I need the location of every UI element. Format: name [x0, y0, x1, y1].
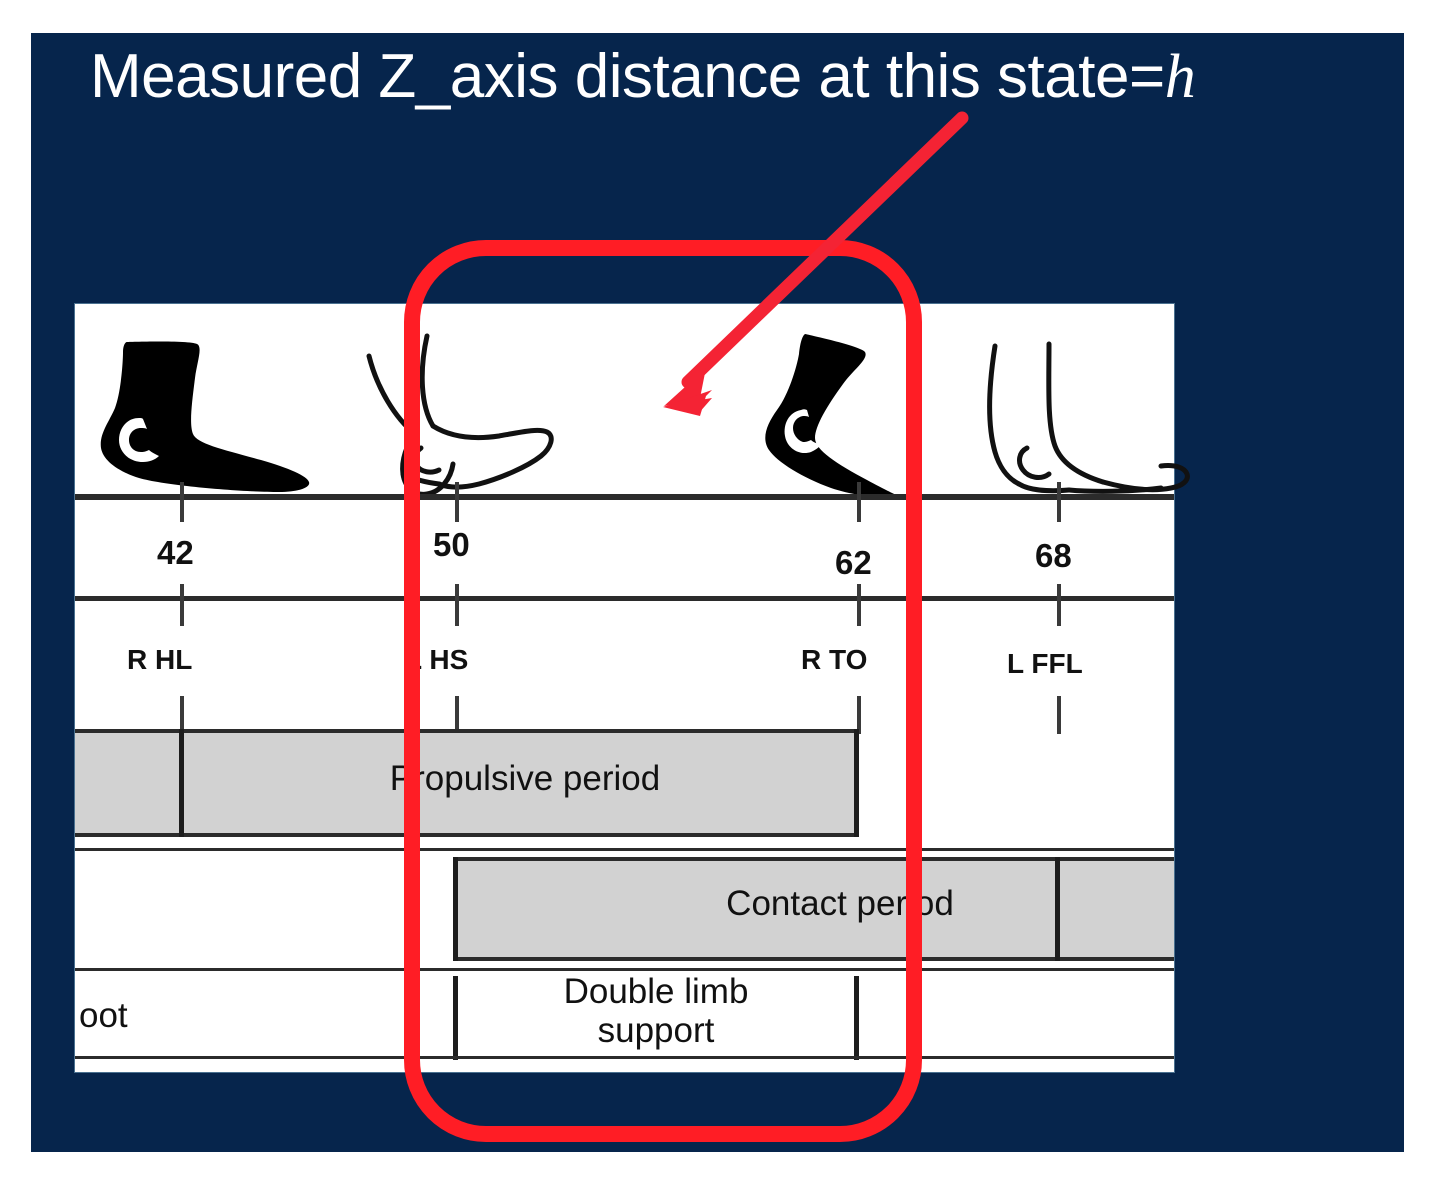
- right-foot-heel-lift-icon: [93, 338, 323, 498]
- tick-68: [1057, 482, 1061, 522]
- tick-label-50: 50: [433, 526, 470, 564]
- page-title-text: Measured Z_axis distance at this state=: [90, 42, 1165, 111]
- contact-period-right-divider: [1055, 857, 1060, 961]
- double-limb-support-left-edge: [453, 976, 458, 1060]
- tick-label-62: 62: [835, 544, 872, 582]
- tick-50-lower: [455, 584, 459, 626]
- propulsive-period-left-divider: [179, 729, 184, 837]
- contact-period-label: Contact period: [675, 884, 1005, 924]
- tick-68-lower: [1057, 584, 1061, 626]
- clipped-left-label: oot: [79, 996, 128, 1036]
- tick-50: [455, 482, 459, 522]
- tick-62-lower: [857, 584, 861, 626]
- left-foot-forefoot-load-icon: [961, 332, 1211, 502]
- slide-root: Measured Z_axis distance at this state=h: [0, 0, 1433, 1188]
- tick-68-event: [1057, 696, 1061, 734]
- event-label-l-hs: L HS: [405, 644, 468, 676]
- double-limb-support-right-edge: [854, 976, 859, 1060]
- propulsive-row-divider: [75, 848, 1174, 851]
- gait-cycle-figure: 42 50 62 68 R HL L HS R TO L FFL Pro: [74, 303, 1175, 1073]
- tick-label-42: 42: [157, 534, 194, 572]
- numbers-row-divider: [75, 596, 1174, 601]
- event-label-l-ffl: L FFL: [1007, 648, 1083, 680]
- tick-42: [180, 482, 184, 522]
- propulsive-period-right-edge: [854, 729, 859, 837]
- figure-inner: 42 50 62 68 R HL L HS R TO L FFL Pro: [75, 304, 1174, 1072]
- event-label-r-to: R TO: [801, 644, 867, 676]
- event-label-r-hl: R HL: [127, 644, 192, 676]
- tick-62: [857, 482, 861, 522]
- double-limb-support-label: Double limb support: [515, 972, 797, 1050]
- tick-42-lower: [180, 584, 184, 626]
- propulsive-period-label: Propulsive period: [325, 759, 725, 799]
- contact-row-divider: [75, 968, 1174, 971]
- figure-bottom-divider: [75, 1056, 1174, 1059]
- left-foot-heel-strike-icon: [303, 326, 563, 502]
- page-title-variable: h: [1165, 43, 1196, 111]
- timeline-axis-line: [75, 494, 1174, 500]
- contact-period-left-edge: [453, 857, 458, 961]
- tick-label-68: 68: [1035, 537, 1072, 575]
- right-foot-toe-off-icon: [739, 332, 959, 502]
- page-title: Measured Z_axis distance at this state=h: [90, 46, 1390, 108]
